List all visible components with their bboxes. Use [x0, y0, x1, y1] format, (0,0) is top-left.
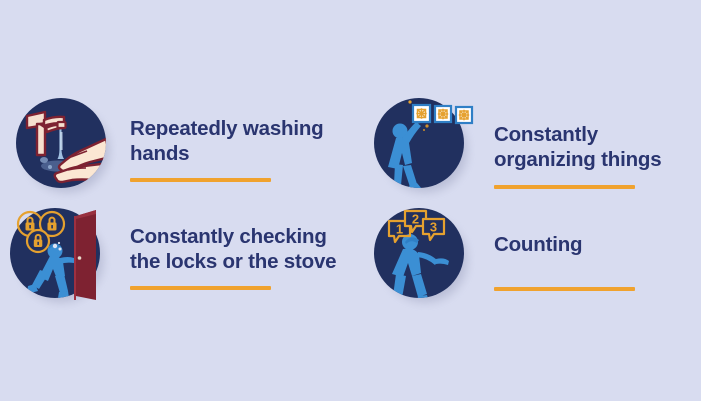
accent-rule	[130, 178, 271, 182]
person-checking-locks-door-icon	[8, 204, 108, 304]
item-text-column: Constantly checking the locks or the sto…	[130, 204, 368, 290]
item-text-column: Constantly organizing things	[494, 94, 697, 189]
svg-text:3: 3	[430, 220, 437, 235]
item-caption: Constantly checking the locks or the sto…	[130, 224, 368, 274]
counting-artwork: 1 2 3	[372, 204, 472, 304]
lock-thought-bubbles	[18, 212, 64, 252]
svg-text:2: 2	[412, 212, 419, 227]
item-repeatedly-washing-hands: Repeatedly washing hands	[14, 94, 359, 194]
padlock-icon	[26, 218, 35, 231]
organizing-artwork	[372, 94, 472, 194]
svg-text:1: 1	[396, 222, 403, 237]
item-constantly-organizing-things: Constantly organizing things	[372, 94, 697, 194]
handwashing-artwork	[14, 94, 114, 194]
speech-bubble-3: 3	[423, 219, 444, 240]
item-constantly-checking-locks-stove: Constantly checking the locks or the sto…	[8, 204, 368, 304]
items-grid: Repeatedly washing hands	[0, 86, 701, 311]
item-counting: 1 2 3 Counting	[372, 204, 697, 304]
item-text-column: Repeatedly washing hands	[130, 94, 359, 182]
checking-locks-artwork	[8, 204, 108, 304]
person-organizing-boxes-icon	[372, 94, 472, 194]
infographic-canvas: Repeatedly washing hands	[0, 0, 701, 401]
accent-rule	[494, 287, 635, 291]
item-caption: Repeatedly washing hands	[130, 116, 359, 166]
accent-rule	[494, 185, 635, 189]
person-counting-bubbles-icon: 1 2 3	[372, 204, 472, 304]
item-text-column: Counting	[494, 204, 697, 291]
item-caption: Counting	[494, 232, 697, 257]
item-caption: Constantly organizing things	[494, 122, 697, 172]
handwashing-faucet-icon	[14, 94, 114, 194]
accent-rule	[130, 286, 271, 290]
open-door	[74, 210, 96, 300]
